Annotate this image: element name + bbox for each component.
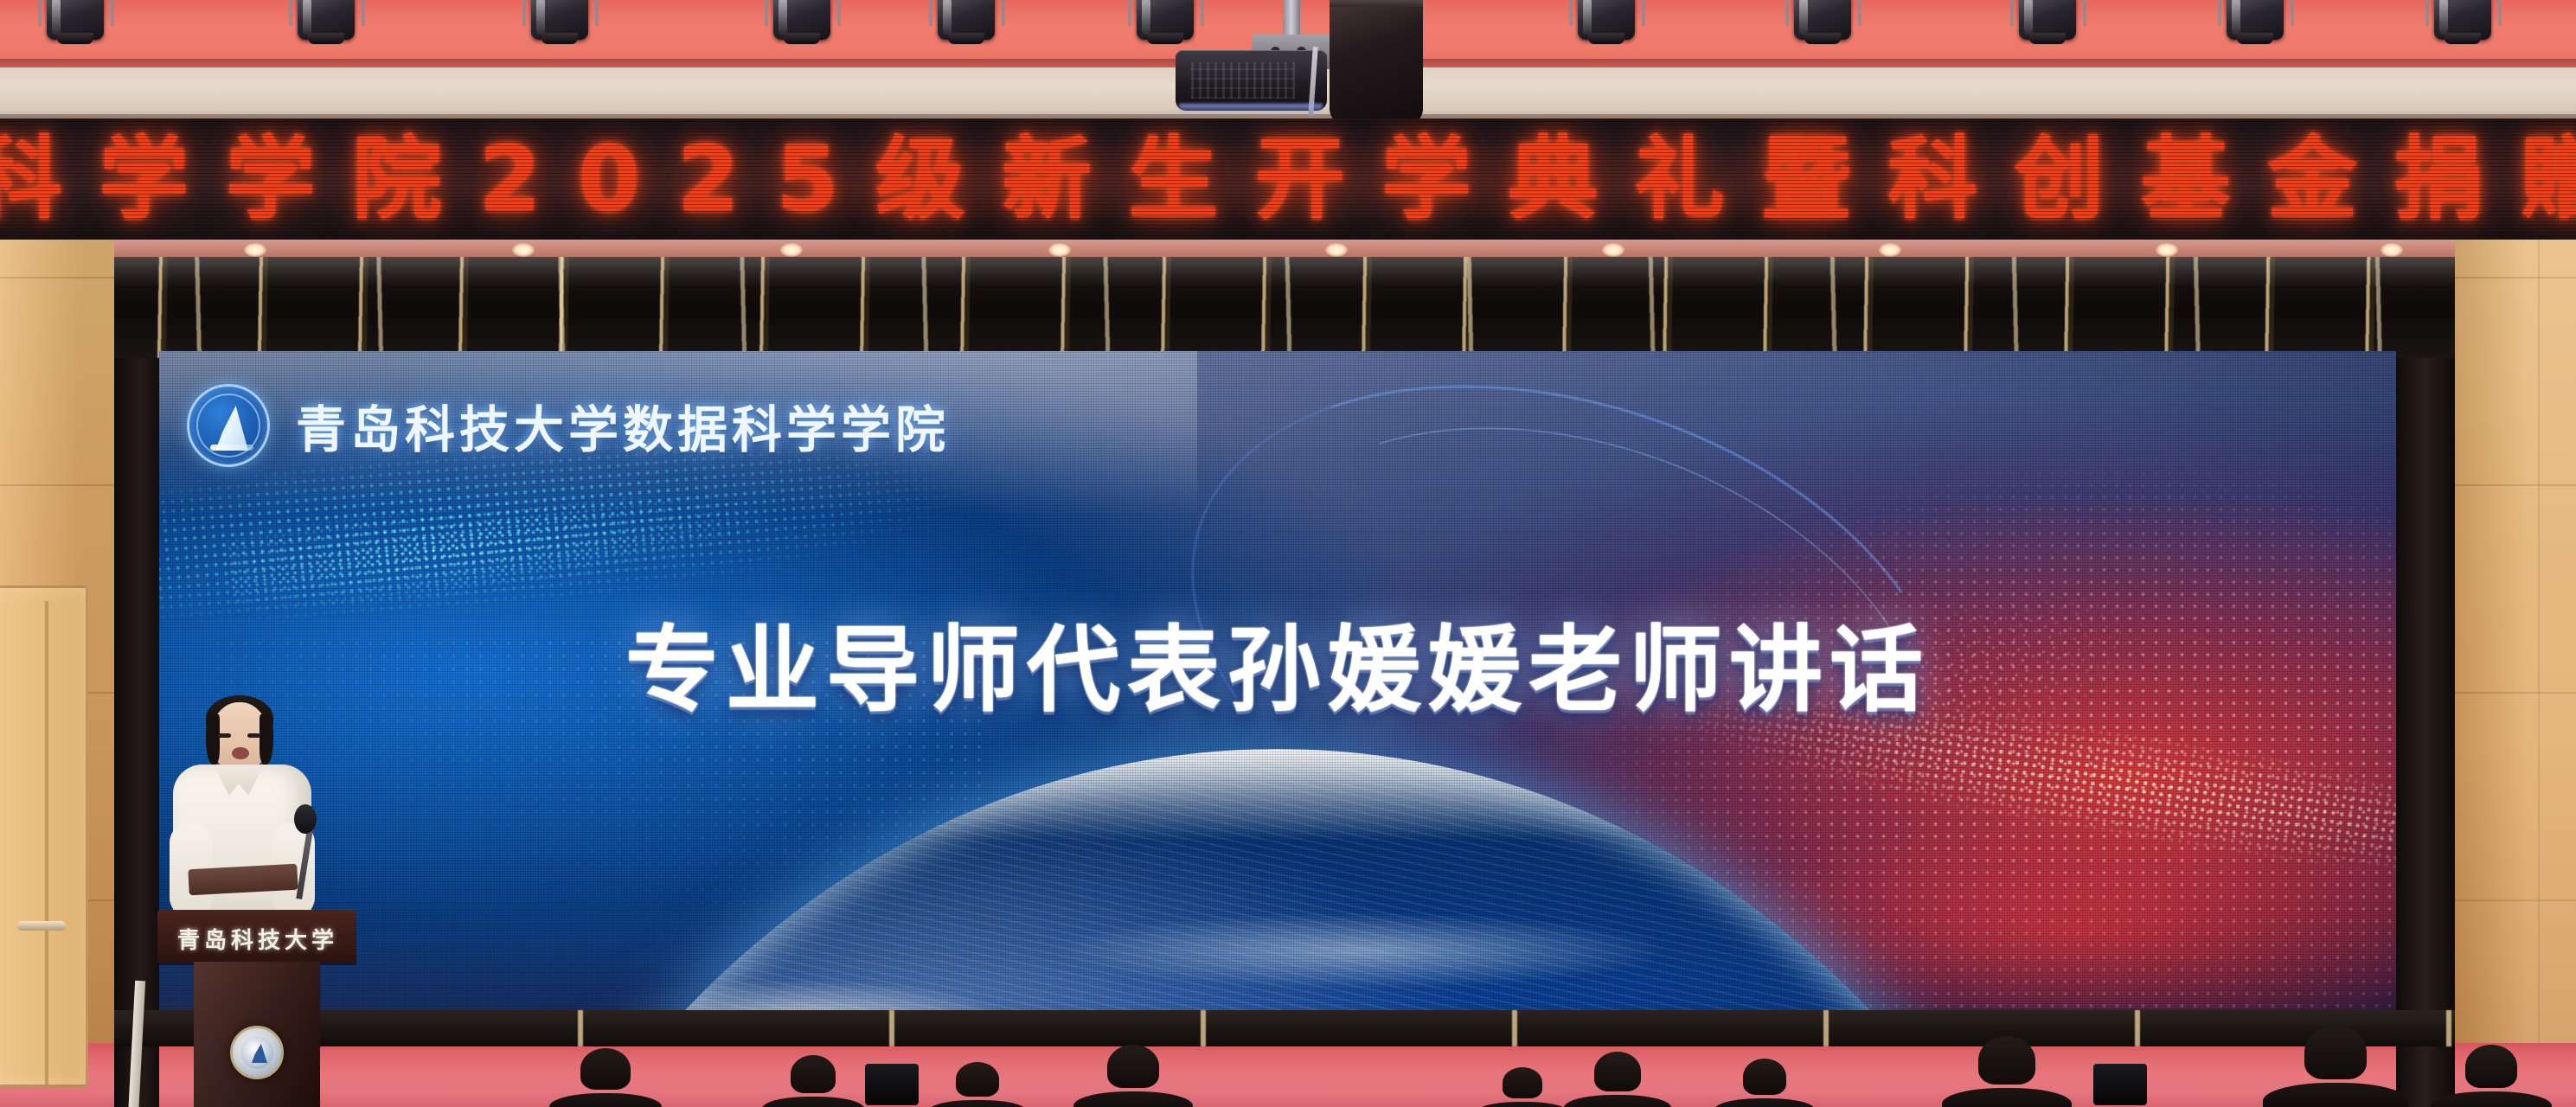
audience-shoulders — [1564, 1095, 1671, 1107]
spotlight-sheen — [536, 0, 545, 35]
marquee-char: 捐 — [2393, 134, 2485, 224]
valance-lamp — [2156, 243, 2178, 257]
podium-nameplate: 青岛科技大学 — [173, 924, 343, 953]
spotlight-lens — [1804, 33, 1841, 44]
audience-head — [956, 1062, 999, 1097]
spotlight-lens — [541, 33, 578, 44]
spotlight-sheen — [2024, 0, 2033, 35]
logo-wave-shape — [210, 445, 253, 451]
spotlight-sheen — [779, 0, 787, 35]
marquee-char: 新 — [1002, 134, 1093, 224]
audience-device — [2093, 1064, 2147, 1105]
valance-lamp — [1048, 243, 1071, 257]
microphone-head-icon — [294, 804, 317, 834]
valance-lamp — [1602, 243, 1624, 257]
spotlight-lens — [948, 33, 984, 44]
audience-shoulders — [2431, 1091, 2552, 1107]
valance-lamp — [1879, 243, 1901, 257]
spotlight-sheen — [52, 0, 61, 35]
marquee-char: 2 — [677, 134, 741, 224]
earth-globe-graphic — [430, 749, 2125, 1043]
projector-body — [1176, 50, 1327, 111]
audience-head — [1978, 1036, 2035, 1085]
ceiling-spotlight — [761, 0, 844, 50]
marquee-char: 典 — [1508, 134, 1599, 224]
spotlight-sheen — [303, 0, 311, 35]
ceiling-spotlight — [2422, 0, 2505, 50]
marquee-char: 0 — [578, 134, 642, 224]
spotlight-sheen — [943, 0, 952, 35]
audience-silhouettes — [0, 1029, 2576, 1107]
speaker-hair-right — [260, 714, 273, 765]
stage-valance — [114, 253, 2455, 358]
marquee-char: 学 — [1381, 134, 1473, 224]
valance-lamp — [1325, 243, 1348, 257]
spotlight-lens — [2237, 33, 2273, 44]
valance-lamp — [244, 243, 266, 257]
screen-bezel-left — [114, 240, 159, 1107]
led-marquee-banner: 科学学院2025级新生开学典礼暨科创基金捐贈 — [0, 118, 2576, 240]
audience-head — [580, 1048, 631, 1090]
audience-head — [1743, 1059, 1786, 1095]
qust-shield-logo-icon — [187, 384, 270, 467]
marquee-char: 级 — [875, 134, 967, 224]
audience-device — [865, 1064, 919, 1105]
audience-head — [2304, 1026, 2367, 1079]
audience-head — [1594, 1052, 1641, 1091]
audience-shoulders — [549, 1093, 662, 1107]
audience-head — [791, 1055, 836, 1093]
valance-lamp-row — [114, 240, 2455, 262]
ceiling-spotlight — [2007, 0, 2090, 50]
marquee-char: 贈 — [2521, 134, 2576, 224]
marquee-char: 5 — [776, 134, 840, 224]
left-wall-panel — [0, 240, 114, 1107]
marquee-text: 科学学院2025级新生开学典礼暨科创基金捐贈 — [0, 124, 2576, 234]
marquee-char: 学 — [226, 134, 317, 224]
audience-shoulders — [762, 1097, 864, 1107]
marquee-char: 2 — [478, 134, 542, 224]
marquee-char: 创 — [2014, 134, 2105, 224]
spotlight-lens — [1588, 33, 1624, 44]
valance-lamp — [2381, 243, 2403, 257]
marquee-char: 科 — [0, 134, 64, 224]
projector-lens-glow — [1179, 104, 1323, 114]
moving-head-light — [1330, 0, 1423, 125]
marquee-char: 院 — [352, 134, 444, 224]
marquee-char: 暨 — [1761, 134, 1853, 224]
speaker-hair-left — [206, 714, 220, 765]
audience-shoulders — [929, 1100, 1026, 1107]
marquee-char: 礼 — [1635, 134, 1727, 224]
moving-head-rim — [1330, 0, 1423, 7]
marquee-char: 科 — [1887, 134, 1979, 224]
spotlight-lens — [308, 33, 344, 44]
door-reveal — [45, 601, 48, 1085]
audience-shoulders — [1942, 1088, 2072, 1107]
main-led-screen: 青岛科技大学数据科学学院 专业导师代表孙媛媛老师讲话 — [159, 351, 2396, 1043]
side-door[interactable] — [0, 585, 88, 1087]
speaker-eye-left — [218, 733, 231, 738]
ceiling-spotlight — [926, 0, 1009, 50]
ceiling-spotlight — [35, 0, 118, 50]
marquee-char: 基 — [2141, 134, 2233, 224]
audience-shoulders — [1477, 1102, 1567, 1107]
ceiling-spotlight — [2214, 0, 2297, 50]
spotlight-lens — [784, 33, 820, 44]
marquee-char: 生 — [1128, 134, 1220, 224]
audience-head — [1503, 1067, 1542, 1098]
speaker-eye-right — [247, 733, 260, 738]
marquee-char: 开 — [1255, 134, 1347, 224]
door-handle[interactable] — [17, 921, 66, 931]
organization-name: 青岛科技大学数据科学学院 — [296, 389, 950, 462]
screen-header: 青岛科技大学数据科学学院 — [187, 384, 950, 467]
spotlight-sheen — [2439, 0, 2448, 35]
screen-bezel-right — [2396, 240, 2455, 1107]
projector-vent — [1191, 62, 1295, 99]
spotlight-sheen — [1142, 0, 1150, 35]
right-wall-panel — [2455, 240, 2576, 1107]
spotlight-lens — [2445, 33, 2481, 44]
audience-head — [2465, 1045, 2517, 1088]
screen-main-title: 专业导师代表孙媛媛老师讲话 — [159, 595, 2396, 730]
spotlight-sheen — [1799, 0, 1808, 35]
valance-lamp — [780, 243, 803, 257]
ceiling-spotlight — [1566, 0, 1649, 50]
spotlight-sheen — [1583, 0, 1592, 35]
valance-lamp — [512, 243, 535, 257]
spotlight-lens — [2029, 33, 2066, 44]
audience-shoulders — [1073, 1091, 1193, 1107]
ceiling-spotlight — [1782, 0, 1865, 50]
audience-head — [1107, 1045, 1159, 1088]
ceiling-spotlight — [519, 0, 602, 50]
speaker-mouth — [232, 747, 249, 759]
marquee-char: 学 — [99, 134, 190, 224]
audience-shoulders — [2263, 1083, 2408, 1107]
auditorium-scene: 科学学院2025级新生开学典礼暨科创基金捐贈 — [0, 0, 2576, 1107]
ceiling-spotlight — [285, 0, 368, 50]
spotlight-sheen — [2232, 0, 2240, 35]
audience-shoulders — [1714, 1098, 1815, 1107]
marquee-char: 金 — [2267, 134, 2359, 224]
spotlight-lens — [57, 33, 93, 44]
ceiling-projector — [1172, 0, 1458, 135]
